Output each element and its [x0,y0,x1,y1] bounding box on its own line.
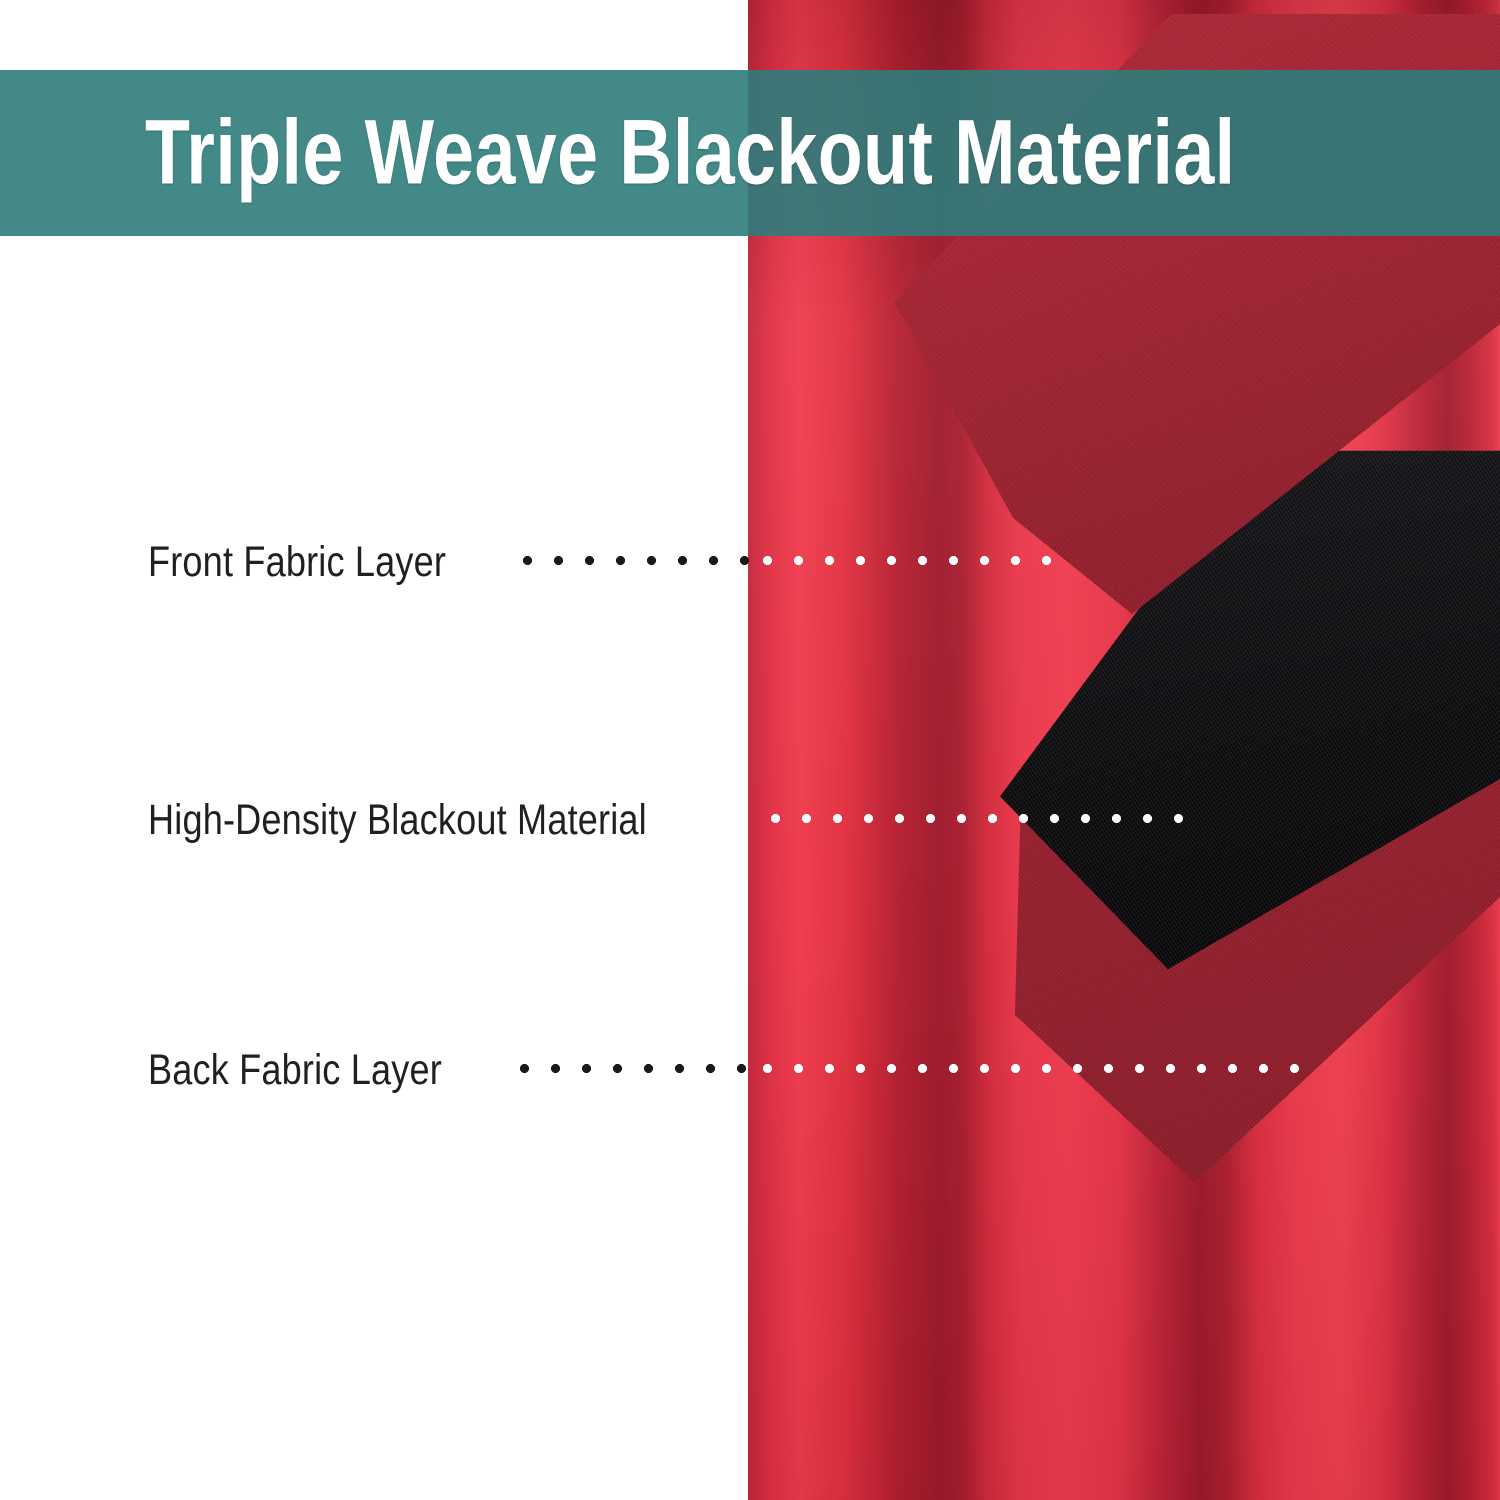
leader-dots-back-light [752,1063,1310,1074]
leader-dots-back-dark [509,1063,752,1074]
leader-dots-blackout-light [760,813,1200,824]
callout-label-back-fabric-layer: Back Fabric Layer [148,1046,442,1095]
banner-title: Triple Weave Blackout Material [145,101,1236,206]
header-banner: Triple Weave Blackout Material [0,70,1500,236]
callout-label-high-density-blackout-material: High-Density Blackout Material [148,796,647,845]
leader-dots-front-dark [512,555,752,566]
leader-dots-front-light [752,555,1068,566]
infographic-canvas: Front Fabric Layer High-Density Blackout… [0,0,1500,1500]
callout-label-front-fabric-layer: Front Fabric Layer [148,538,446,587]
